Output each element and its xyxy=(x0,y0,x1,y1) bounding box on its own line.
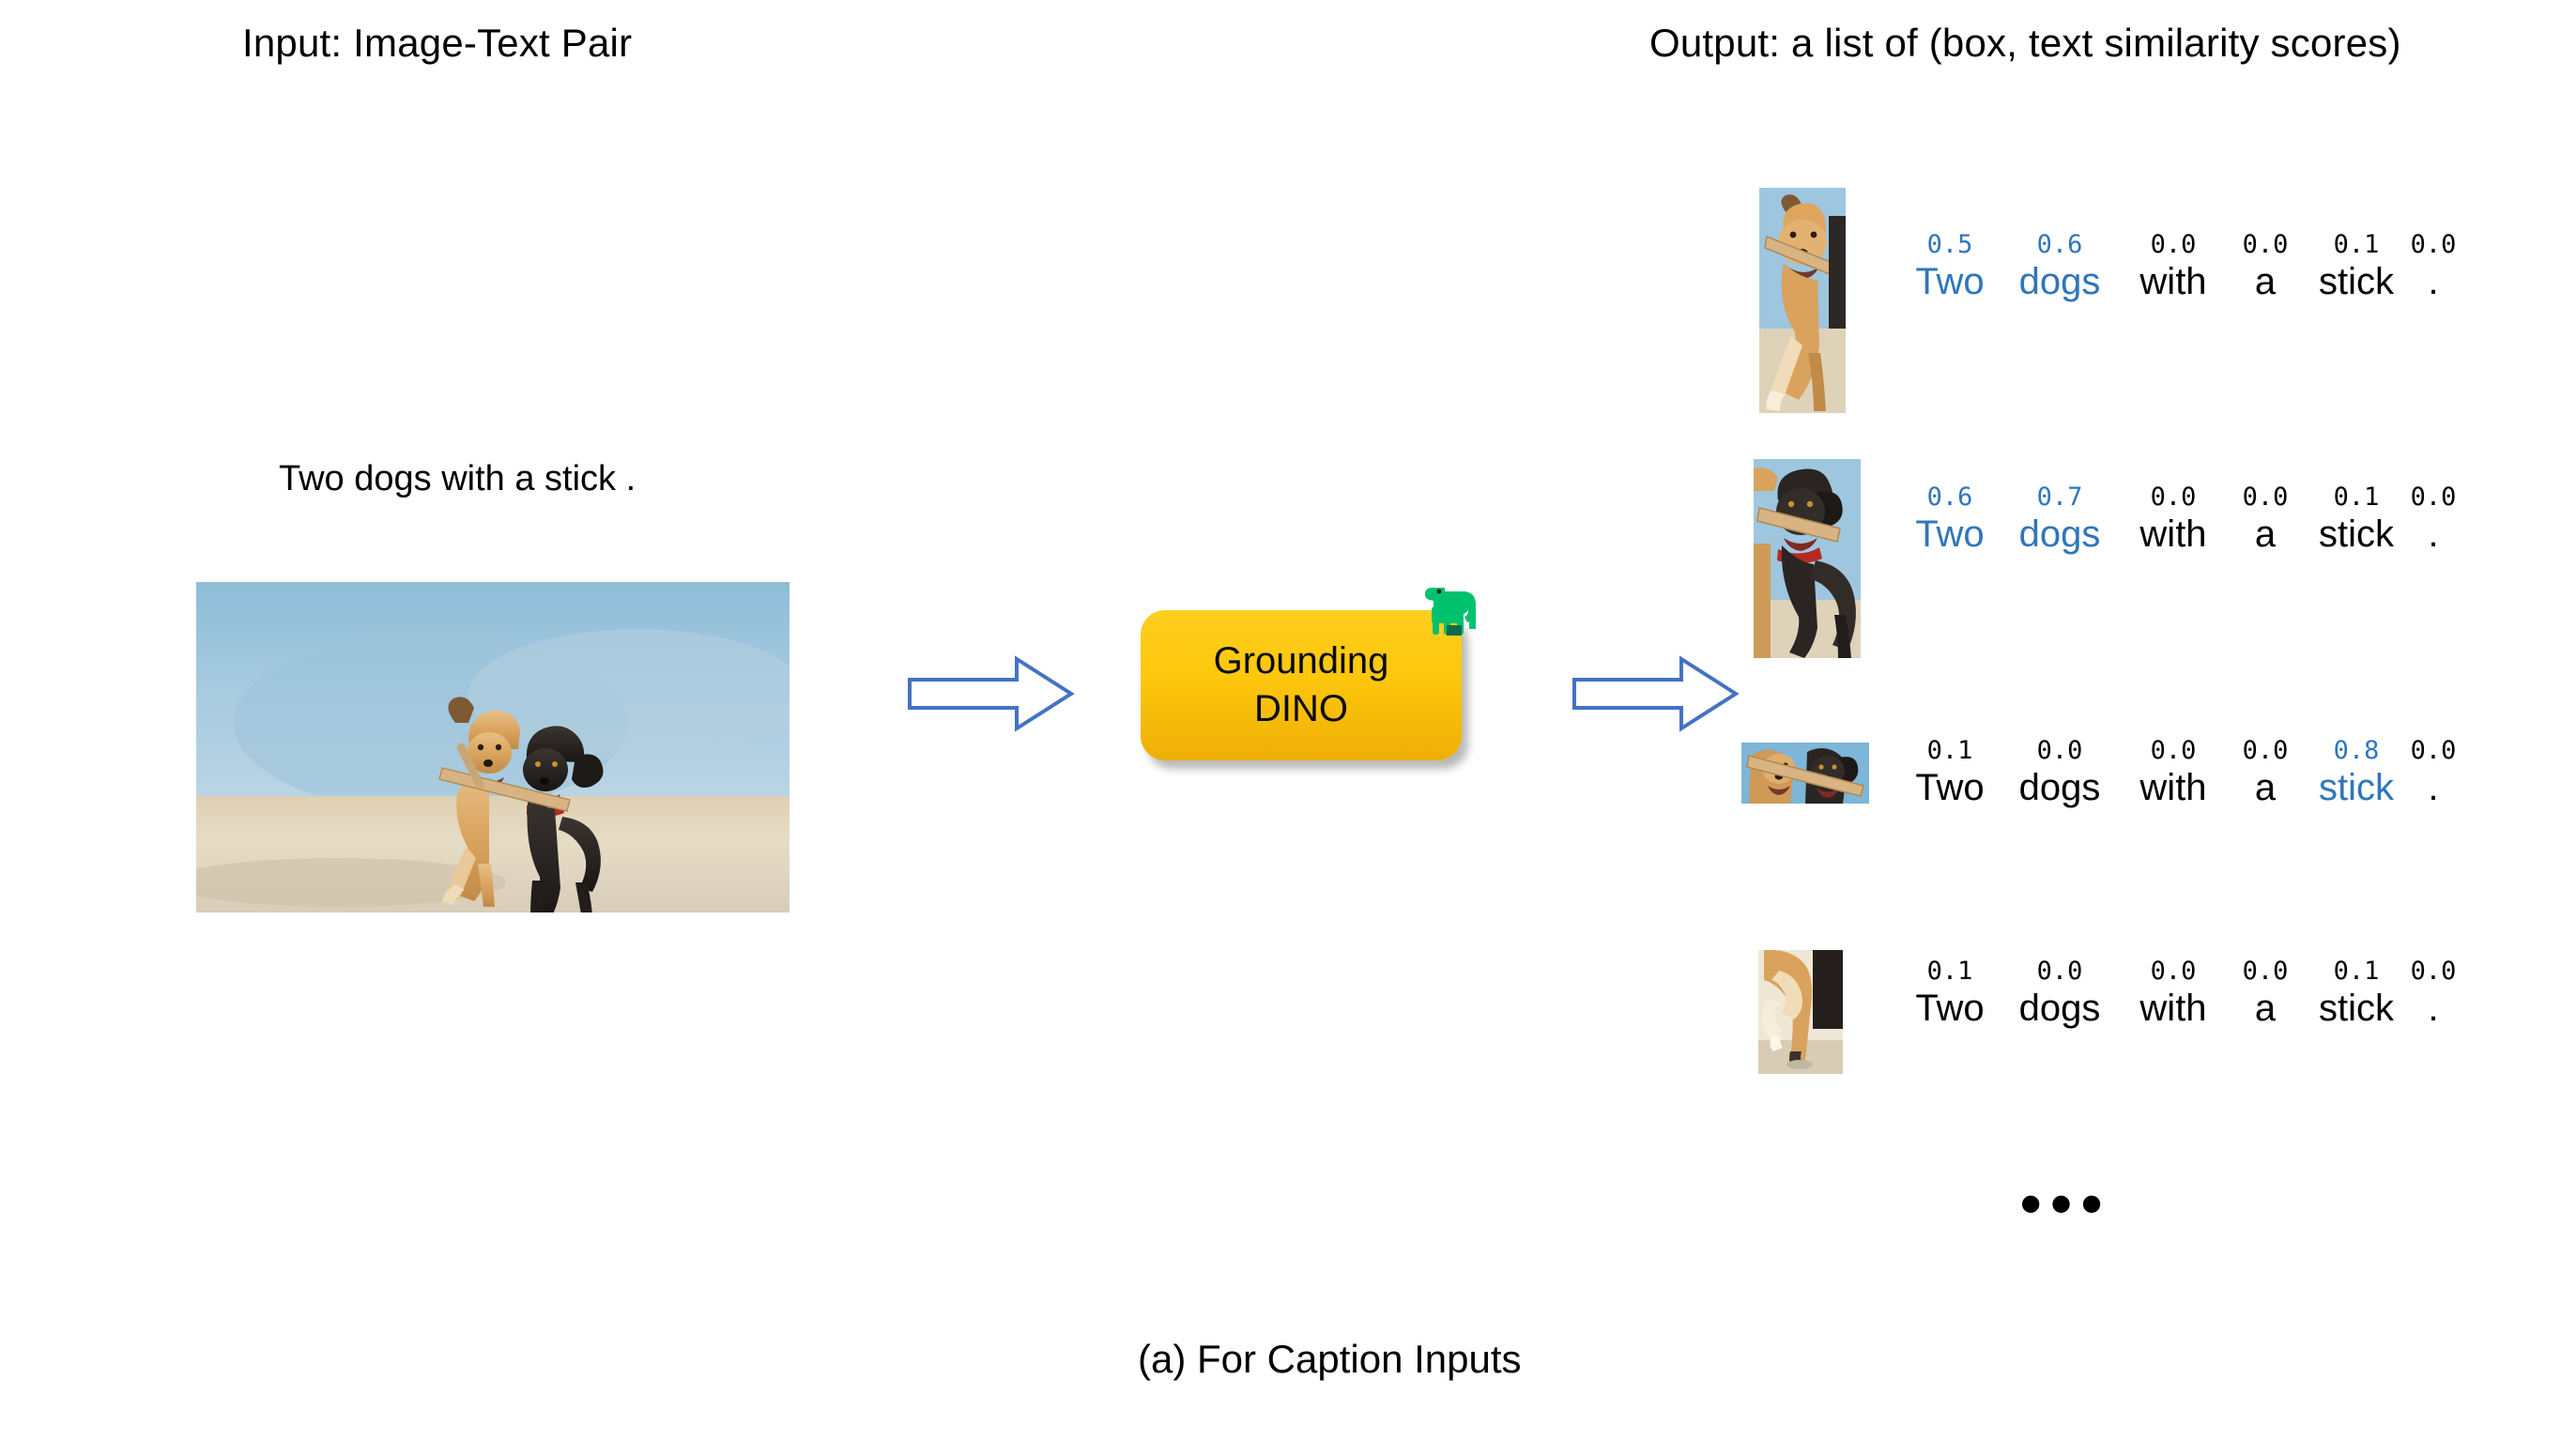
token-line-0: Two dogs with a stick . xyxy=(1900,261,2458,303)
token-line-1: Two dogs with a stick . xyxy=(1900,514,2458,556)
token-cell: with xyxy=(2120,514,2227,556)
score-cell: 0.6 xyxy=(1900,483,2000,512)
token-cell: stick xyxy=(2304,767,2409,809)
token-line-2: Two dogs with a stick . xyxy=(1900,767,2458,809)
score-cell: 0.0 xyxy=(2120,483,2227,512)
token-cell: stick xyxy=(2304,261,2409,303)
dogs-on-beach-illustration xyxy=(196,582,790,912)
dinosaur-icon xyxy=(1416,578,1478,636)
arrow-model-to-output-icon xyxy=(1571,652,1740,736)
output-box-thumbnail-2 xyxy=(1741,743,1869,804)
token-cell: Two xyxy=(1900,514,2000,556)
score-cell: 0.0 xyxy=(2120,230,2227,259)
token-cell: stick xyxy=(2304,988,2409,1030)
score-cell: 0.0 xyxy=(2409,230,2458,259)
score-line-2: 0.1 0.0 0.0 0.0 0.8 0.0 xyxy=(1900,736,2458,765)
output-row-1: 0.6 0.7 0.0 0.0 0.1 0.0 Two dogs with a … xyxy=(1900,483,2458,556)
token-cell: dogs xyxy=(2000,767,2120,809)
score-cell: 0.7 xyxy=(2000,483,2120,512)
score-line-1: 0.6 0.7 0.0 0.0 0.1 0.0 xyxy=(1900,483,2458,512)
token-cell: with xyxy=(2120,261,2227,303)
token-cell: dogs xyxy=(2000,988,2120,1030)
score-cell: 0.1 xyxy=(1900,736,2000,765)
token-cell: with xyxy=(2120,988,2227,1030)
figure-caption: (a) For Caption Inputs xyxy=(1138,1337,1522,1382)
score-cell: 0.0 xyxy=(2227,230,2304,259)
input-caption-text: Two dogs with a stick . xyxy=(279,459,636,499)
arrow-input-to-model-icon xyxy=(906,652,1075,736)
token-cell: dogs xyxy=(2000,514,2120,556)
output-box-thumbnail-0 xyxy=(1759,188,1846,413)
score-cell: 0.0 xyxy=(2120,957,2227,986)
score-cell: 0.0 xyxy=(2000,736,2120,765)
token-cell: stick xyxy=(2304,514,2409,556)
score-cell: 0.6 xyxy=(2000,230,2120,259)
score-cell: 0.0 xyxy=(2409,736,2458,765)
token-cell: . xyxy=(2409,767,2458,809)
score-cell: 0.0 xyxy=(2000,957,2120,986)
output-row-3: 0.1 0.0 0.0 0.0 0.1 0.0 Two dogs with a … xyxy=(1900,957,2458,1030)
score-cell: 0.1 xyxy=(2304,483,2409,512)
output-row-0: 0.5 0.6 0.0 0.0 0.1 0.0 Two dogs with a … xyxy=(1900,230,2458,303)
token-cell: Two xyxy=(1900,988,2000,1030)
input-image xyxy=(196,582,790,912)
model-name-line-2: DINO xyxy=(1254,685,1348,733)
score-cell: 0.0 xyxy=(2227,957,2304,986)
score-cell: 0.0 xyxy=(2409,483,2458,512)
token-line-3: Two dogs with a stick . xyxy=(1900,988,2458,1030)
score-cell: 0.8 xyxy=(2304,736,2409,765)
output-box-thumbnail-1 xyxy=(1754,459,1861,658)
token-cell: dogs xyxy=(2000,261,2120,303)
token-cell: a xyxy=(2227,261,2304,303)
score-line-0: 0.5 0.6 0.0 0.0 0.1 0.0 xyxy=(1900,230,2458,259)
score-cell: 0.0 xyxy=(2120,736,2227,765)
score-cell: 0.1 xyxy=(2304,957,2409,986)
grounding-dino-model-box: Grounding DINO xyxy=(1141,610,1462,760)
token-cell: a xyxy=(2227,514,2304,556)
token-cell: with xyxy=(2120,767,2227,809)
output-row-2: 0.1 0.0 0.0 0.0 0.8 0.0 Two dogs with a … xyxy=(1900,736,2458,809)
score-cell: 0.1 xyxy=(1900,957,2000,986)
input-column-title: Input: Image-Text Pair xyxy=(242,21,632,66)
model-name-line-1: Grounding xyxy=(1214,637,1389,685)
token-cell: Two xyxy=(1900,261,2000,303)
token-cell: . xyxy=(2409,988,2458,1030)
score-cell: 0.0 xyxy=(2227,736,2304,765)
token-cell: a xyxy=(2227,988,2304,1030)
score-line-3: 0.1 0.0 0.0 0.0 0.1 0.0 xyxy=(1900,957,2458,986)
score-cell: 0.0 xyxy=(2227,483,2304,512)
score-cell: 0.5 xyxy=(1900,230,2000,259)
score-cell: 0.1 xyxy=(2304,230,2409,259)
token-cell: . xyxy=(2409,514,2458,556)
output-ellipsis: ••• xyxy=(2020,1173,2111,1234)
token-cell: a xyxy=(2227,767,2304,809)
token-cell: Two xyxy=(1900,767,2000,809)
token-cell: . xyxy=(2409,261,2458,303)
score-cell: 0.0 xyxy=(2409,957,2458,986)
output-box-thumbnail-3 xyxy=(1758,950,1843,1074)
output-column-title: Output: a list of (box, text similarity … xyxy=(1649,21,2401,66)
